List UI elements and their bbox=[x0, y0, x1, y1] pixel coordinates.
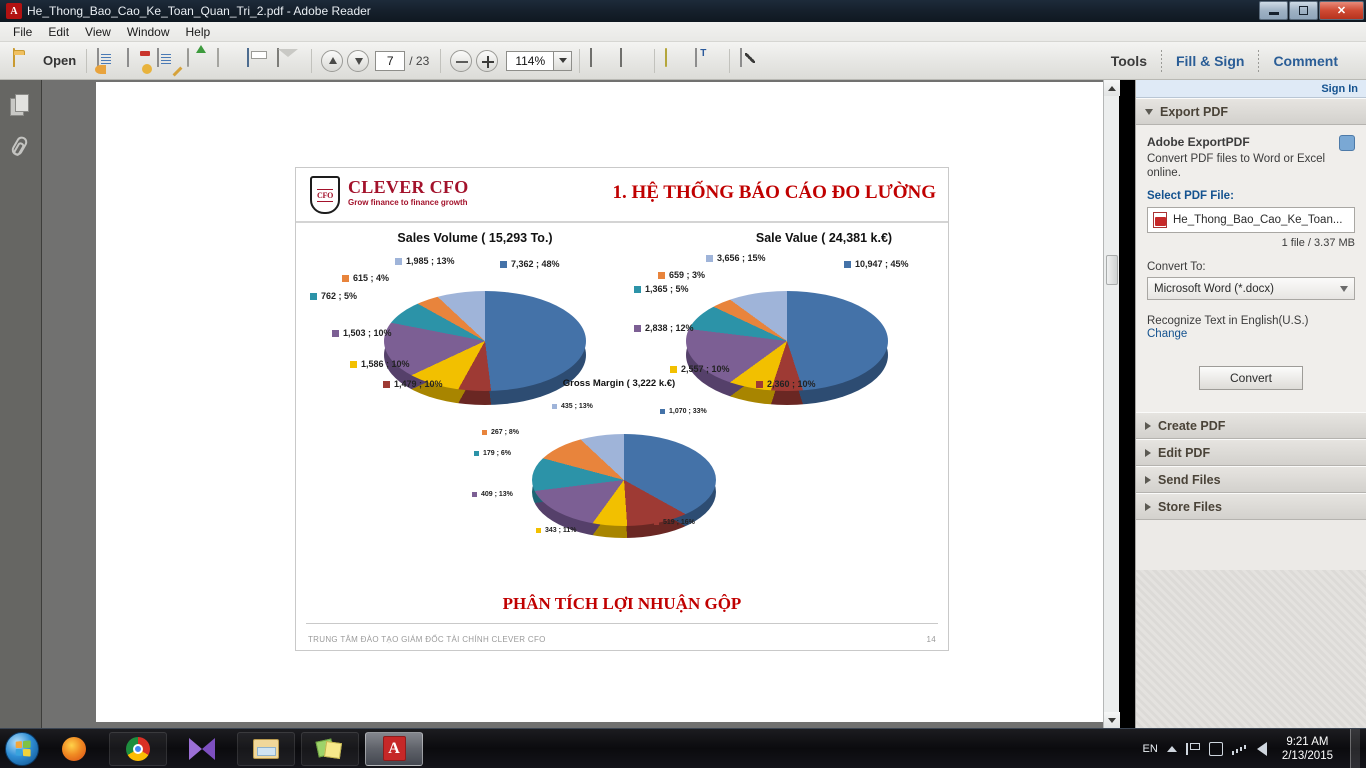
menu-item-help[interactable]: Help bbox=[178, 23, 219, 41]
pie-label: 1,365 ; 5% bbox=[634, 284, 689, 294]
pie-label: 1,479 ; 10% bbox=[383, 379, 443, 389]
toolbar-right-group: Tools Fill & Sign Comment bbox=[1097, 50, 1366, 72]
zoom-dropdown-icon[interactable] bbox=[554, 51, 572, 71]
clever-cfo-logo-icon: CFO bbox=[310, 176, 340, 214]
scrollbar-thumb[interactable] bbox=[1106, 255, 1118, 285]
pie-label: 2,838 ; 12% bbox=[634, 323, 694, 333]
select-pdf-file-label: Select PDF File: bbox=[1147, 190, 1355, 202]
save-icon bbox=[217, 49, 241, 73]
upload-cloud-icon bbox=[187, 49, 211, 73]
pie-label: 10,947 ; 45% bbox=[844, 259, 909, 269]
pie-label: 435 ; 13% bbox=[552, 403, 593, 410]
slide-header: CFO CLEVER CFO Grow finance to finance g… bbox=[296, 168, 948, 223]
pie-label: 409 ; 13% bbox=[472, 491, 513, 498]
section-header-export-pdf[interactable]: Export PDF bbox=[1136, 98, 1366, 125]
next-page-icon[interactable] bbox=[347, 50, 369, 72]
firefox-icon[interactable] bbox=[45, 732, 103, 766]
section-title: Edit PDF bbox=[1158, 446, 1210, 460]
highlight-text-icon bbox=[695, 49, 719, 73]
upload-cloud-button[interactable] bbox=[184, 46, 214, 76]
page-total-label: / 23 bbox=[409, 54, 429, 68]
zoom-level-input[interactable]: 114% bbox=[506, 51, 554, 71]
toolbar-divider bbox=[311, 49, 312, 73]
recognize-text-label: Recognize Text in English(U.S.) bbox=[1147, 314, 1355, 328]
chevron-right-icon bbox=[1145, 449, 1151, 457]
pie-label: 7,362 ; 48% bbox=[500, 259, 560, 269]
panel-empty-area bbox=[1136, 570, 1366, 728]
combine-files-icon bbox=[127, 49, 151, 73]
sticky-notes-icon[interactable] bbox=[301, 732, 359, 766]
slide-body: Sales Volume ( 15,293 To.) 7,362 ; 48% 1… bbox=[296, 223, 948, 597]
scroll-up-icon[interactable] bbox=[1104, 80, 1120, 96]
section-title: Create PDF bbox=[1158, 419, 1225, 433]
pie-label: 2,360 ; 10% bbox=[756, 379, 816, 389]
create-pdf-button[interactable] bbox=[94, 46, 124, 76]
fit-page-button[interactable] bbox=[617, 46, 647, 76]
volume-icon[interactable] bbox=[1257, 742, 1267, 756]
pie-label: 1,985 ; 13% bbox=[395, 256, 455, 266]
scroll-down-icon[interactable] bbox=[1104, 712, 1120, 728]
chevron-down-icon bbox=[1340, 286, 1348, 292]
combine-files-button[interactable] bbox=[124, 46, 154, 76]
export-description: Convert PDF files to Word or Excel onlin… bbox=[1147, 152, 1355, 180]
fit-page-icon bbox=[620, 49, 644, 73]
edit-pdf-icon bbox=[157, 49, 181, 73]
brand-name: CLEVER CFO bbox=[348, 178, 469, 197]
section-title: Store Files bbox=[1158, 500, 1222, 514]
slide-footer: TRUNG TÂM ĐÀO TẠO GIÁM ĐỐC TÀI CHÍNH CLE… bbox=[308, 635, 936, 644]
windows-taskbar: A EN 9:21 AM 2/13/2015 bbox=[0, 728, 1366, 768]
action-center-icon[interactable] bbox=[1209, 742, 1223, 756]
section-header-create-pdf[interactable]: Create PDF bbox=[1136, 412, 1366, 439]
toolbar-divider bbox=[579, 49, 580, 73]
window-title: He_Thong_Bao_Cao_Ke_Toan_Quan_Tri_2.pdf … bbox=[27, 4, 371, 18]
adobe-reader-icon[interactable]: A bbox=[365, 732, 423, 766]
tools-panel-button[interactable]: Tools bbox=[1097, 53, 1161, 69]
show-desktop-button[interactable] bbox=[1350, 729, 1360, 768]
attachments-icon[interactable] bbox=[8, 134, 34, 160]
pie-slices bbox=[686, 291, 888, 391]
chart-title: Sales Volume ( 15,293 To.) bbox=[340, 231, 610, 245]
section-header-store-files[interactable]: Store Files bbox=[1136, 493, 1366, 520]
pie-label: 267 ; 8% bbox=[482, 429, 519, 436]
change-language-link[interactable]: Change bbox=[1147, 328, 1355, 340]
toolbar-divider bbox=[86, 49, 87, 73]
signin-bar: Sign In bbox=[1136, 80, 1366, 98]
toolbar-divider bbox=[654, 49, 655, 73]
open-button[interactable]: Open bbox=[10, 46, 79, 76]
footer-org-label: TRUNG TÂM ĐÀO TẠO GIÁM ĐỐC TÀI CHÍNH CLE… bbox=[308, 635, 546, 644]
window-controls: ✕ bbox=[1259, 1, 1364, 20]
convert-to-select[interactable]: Microsoft Word (*.docx) bbox=[1147, 277, 1355, 300]
menu-item-edit[interactable]: Edit bbox=[40, 23, 77, 41]
clock-time: 9:21 AM bbox=[1282, 735, 1333, 749]
footer-page-number: 14 bbox=[927, 635, 937, 644]
show-hidden-icons[interactable] bbox=[1167, 746, 1177, 752]
pie-label: 615 ; 4% bbox=[342, 273, 389, 283]
window-title-bar: He_Thong_Bao_Cao_Ke_Toan_Quan_Tri_2.pdf … bbox=[0, 0, 1366, 22]
pie-label: 343 ; 11% bbox=[536, 527, 577, 534]
pie-label: 1,070 ; 33% bbox=[660, 408, 707, 415]
slide-title: 1. HỆ THỐNG BÁO CÁO ĐO LƯỜNG bbox=[612, 182, 936, 204]
pie-label: 659 ; 3% bbox=[658, 270, 705, 280]
sign-in-link[interactable]: Sign In bbox=[1321, 83, 1358, 95]
sticky-note-button[interactable] bbox=[662, 46, 692, 76]
fill-and-sign-button[interactable]: Fill & Sign bbox=[1162, 53, 1258, 69]
brand-tagline: Grow finance to finance growth bbox=[348, 198, 469, 207]
pie-slices bbox=[384, 291, 586, 391]
comment-panel-button[interactable]: Comment bbox=[1259, 53, 1352, 69]
network-flag-icon[interactable] bbox=[1186, 743, 1200, 755]
minimize-button[interactable] bbox=[1259, 1, 1288, 20]
chart-sale-value: Sale Value ( 24,381 k.€) 10,947 ; 45% 2,… bbox=[634, 231, 934, 401]
print-icon bbox=[247, 49, 271, 73]
signal-strength-icon[interactable] bbox=[1232, 743, 1248, 755]
edit-pdf-button[interactable] bbox=[154, 46, 184, 76]
pie-label: 179 ; 6% bbox=[474, 450, 511, 457]
start-orb[interactable] bbox=[5, 732, 39, 766]
convert-button[interactable]: Convert bbox=[1199, 366, 1303, 390]
restore-button[interactable] bbox=[1289, 1, 1318, 20]
toolbar-divider bbox=[440, 49, 441, 73]
section-header-edit-pdf[interactable]: Edit PDF bbox=[1136, 439, 1366, 466]
menu-bar: File Edit View Window Help bbox=[0, 22, 1366, 42]
section-header-send-files[interactable]: Send Files bbox=[1136, 466, 1366, 493]
fit-width-button[interactable] bbox=[587, 46, 617, 76]
tools-right-panel: Sign In Export PDF Adobe ExportPDF Conve… bbox=[1135, 80, 1366, 728]
convert-button-wrap: Convert bbox=[1147, 366, 1355, 390]
toolbar-divider bbox=[729, 49, 730, 73]
adobe-reader-icon bbox=[6, 3, 22, 19]
slide-bottom-title: PHÂN TÍCH LỢI NHUẬN GỘP bbox=[296, 594, 948, 614]
navigation-pane bbox=[0, 80, 42, 728]
chevron-right-icon bbox=[1145, 422, 1151, 430]
pie-slices bbox=[532, 434, 716, 526]
page-thumbnails-icon[interactable] bbox=[8, 94, 34, 120]
document-scrollbar[interactable] bbox=[1103, 80, 1119, 728]
chevron-down-icon bbox=[1145, 109, 1153, 115]
media-player-icon[interactable] bbox=[173, 732, 231, 766]
slide-content: CFO CLEVER CFO Grow finance to finance g… bbox=[295, 167, 949, 651]
chart-title: Sale Value ( 24,381 k.€) bbox=[714, 231, 934, 245]
tray-language-indicator[interactable]: EN bbox=[1143, 743, 1158, 755]
read-mode-icon bbox=[740, 49, 764, 73]
pie-label: 519 ; 16% bbox=[654, 519, 695, 526]
file-meta-label: 1 file / 3.37 MB bbox=[1147, 237, 1355, 249]
zoom-in-icon[interactable] bbox=[476, 50, 498, 72]
pie-label: 1,503 ; 10% bbox=[332, 328, 392, 338]
section-title: Export PDF bbox=[1160, 105, 1228, 119]
close-button[interactable]: ✕ bbox=[1319, 1, 1364, 20]
chrome-icon[interactable] bbox=[109, 732, 167, 766]
file-explorer-icon[interactable] bbox=[237, 732, 295, 766]
print-button[interactable] bbox=[244, 46, 274, 76]
menu-item-window[interactable]: Window bbox=[119, 23, 178, 41]
chevron-right-icon bbox=[1145, 503, 1151, 511]
menu-item-view[interactable]: View bbox=[77, 23, 119, 41]
export-pdf-service-icon bbox=[1339, 135, 1355, 151]
email-icon bbox=[277, 49, 301, 73]
highlight-text-button[interactable] bbox=[692, 46, 722, 76]
export-pdf-body: Adobe ExportPDF Convert PDF files to Wor… bbox=[1136, 125, 1366, 412]
fit-width-icon bbox=[590, 49, 614, 73]
menu-item-file[interactable]: File bbox=[5, 23, 40, 41]
create-pdf-icon bbox=[97, 49, 121, 73]
windows-logo-icon bbox=[15, 740, 30, 756]
zoom-out-icon[interactable] bbox=[450, 50, 472, 72]
section-title: Send Files bbox=[1158, 473, 1221, 487]
main-toolbar: Open bbox=[0, 42, 1366, 80]
pie-label: 1,586 ; 10% bbox=[350, 359, 410, 369]
document-viewport[interactable]: CFO CLEVER CFO Grow finance to finance g… bbox=[42, 80, 1119, 728]
page-number-input[interactable]: 7 bbox=[375, 51, 405, 71]
email-button[interactable] bbox=[274, 46, 304, 76]
chart-sales-volume: Sales Volume ( 15,293 To.) 7,362 ; 48% 1… bbox=[310, 231, 610, 401]
footer-divider bbox=[306, 623, 938, 624]
chevron-right-icon bbox=[1145, 476, 1151, 484]
logo-text: CFO bbox=[317, 189, 333, 202]
pie-graphic bbox=[464, 400, 764, 550]
export-heading: Adobe ExportPDF bbox=[1147, 135, 1250, 149]
pie-label: 762 ; 5% bbox=[310, 291, 357, 301]
previous-page-icon[interactable] bbox=[321, 50, 343, 72]
system-tray: EN 9:21 AM 2/13/2015 bbox=[1143, 729, 1366, 768]
pdf-page: CFO CLEVER CFO Grow finance to finance g… bbox=[96, 82, 1104, 722]
convert-to-label: Convert To: bbox=[1147, 261, 1355, 273]
save-button[interactable] bbox=[214, 46, 244, 76]
open-folder-icon bbox=[13, 49, 37, 73]
pie-label: 2,557 ; 10% bbox=[670, 364, 730, 374]
selected-file-box[interactable]: He_Thong_Bao_Cao_Ke_Toan... bbox=[1147, 207, 1355, 233]
chart-gross-margin: Gross Margin ( 3,222 k.€) 1,070 ; 33% 51… bbox=[464, 378, 764, 553]
pie-label: 3,656 ; 15% bbox=[706, 253, 766, 263]
brand-block: CLEVER CFO Grow finance to finance growt… bbox=[348, 178, 469, 207]
pdf-file-icon bbox=[1153, 212, 1167, 228]
read-mode-button[interactable] bbox=[737, 46, 767, 76]
chart-title: Gross Margin ( 3,222 k.€) bbox=[474, 378, 764, 389]
clock[interactable]: 9:21 AM 2/13/2015 bbox=[1276, 735, 1339, 763]
selected-file-name: He_Thong_Bao_Cao_Ke_Toan... bbox=[1173, 214, 1342, 226]
clock-date: 2/13/2015 bbox=[1282, 749, 1333, 763]
convert-to-value: Microsoft Word (*.docx) bbox=[1154, 283, 1274, 295]
sticky-note-icon bbox=[665, 49, 689, 73]
